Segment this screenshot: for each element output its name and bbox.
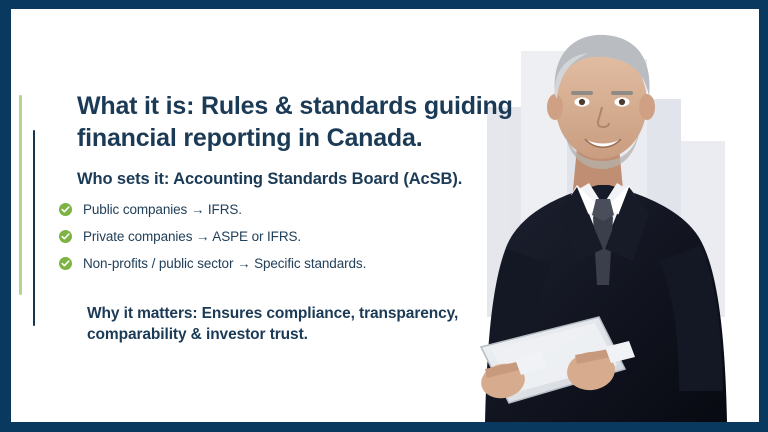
slide-heading: What it is: Rules & standards guiding fi… xyxy=(77,90,527,154)
slide-subheading: Who sets it: Accounting Standards Board … xyxy=(77,169,527,190)
check-circle-icon xyxy=(59,257,72,270)
bullet-list: Public companies → IFRS. Private compani… xyxy=(59,202,529,283)
text-content: What it is: Rules & standards guiding fi… xyxy=(11,9,531,422)
why-it-matters-note: Why it matters: Ensures compliance, tran… xyxy=(87,303,517,346)
list-item-label: Non-profits / public sector → Specific s… xyxy=(83,256,366,271)
check-circle-icon xyxy=(59,230,72,243)
slide-canvas: What it is: Rules & standards guiding fi… xyxy=(11,9,759,422)
check-circle-icon xyxy=(59,203,72,216)
list-item: Non-profits / public sector → Specific s… xyxy=(59,256,529,271)
list-item: Public companies → IFRS. xyxy=(59,202,529,217)
slide-root: What it is: Rules & standards guiding fi… xyxy=(0,0,768,432)
list-item: Private companies → ASPE or IFRS. xyxy=(59,229,529,244)
list-item-label: Public companies → IFRS. xyxy=(83,202,242,217)
list-item-label: Private companies → ASPE or IFRS. xyxy=(83,229,301,244)
